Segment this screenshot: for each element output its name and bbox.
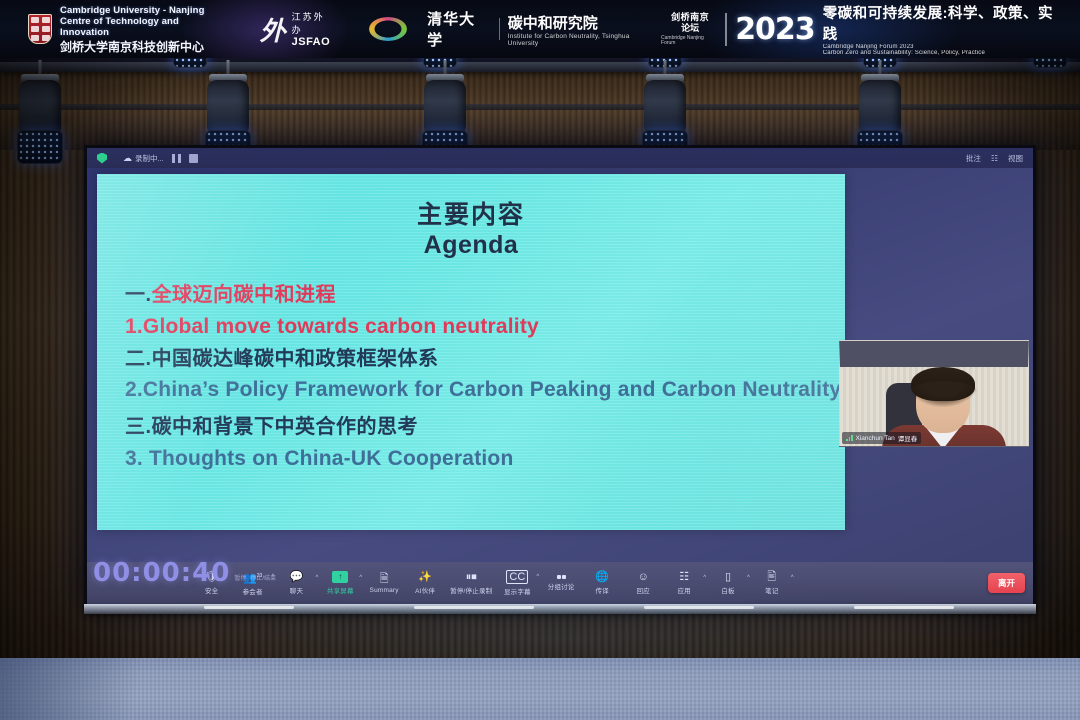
leave-meeting-button[interactable]: 离开 (988, 573, 1025, 593)
view-icon: ☷ (991, 154, 998, 163)
view-button[interactable]: 视图 (1008, 153, 1023, 164)
floor-shadow (0, 658, 180, 720)
forum-year: 2023 (735, 12, 815, 47)
stage-lip (84, 604, 1036, 614)
slide-title-zh: 主要内容 (97, 200, 845, 230)
zoom-control-captions[interactable]: CC 显示字幕 (497, 570, 537, 596)
chat-bubble-icon: 💬 (290, 571, 304, 583)
presentation-slide: 主要内容 Agenda 一.全球迈向碳中和进程 1.Global move to… (97, 174, 845, 530)
share-screen-icon: ↑ (332, 571, 348, 583)
forum-slogan-zh: 零碳和可持续发展:科学、政策、实践 (823, 2, 1066, 44)
cambridge-logo-text: Cambridge University - Nanjing Centre of… (60, 5, 230, 54)
agenda-item: 二.中国碳达峰碳中和政策框架体系 (125, 344, 845, 376)
cambridge-en-line2: Centre of Technology and Innovation (60, 16, 230, 38)
zoom-control-reactions-label: 回应 (636, 585, 649, 595)
zoom-control-notes[interactable]: 🖹 笔记 (752, 571, 792, 595)
forum-badge-line1: 剑桥南京 (671, 13, 709, 22)
zoom-control-summary[interactable]: 🗎 Summary (364, 573, 404, 594)
zoom-top-bar: ☁ 录制中... 批注 ☷ 视图 (87, 148, 1033, 168)
meeting-timer: 00:00:40 暂停 停止/结束 (93, 560, 276, 586)
screenshot-root: Cambridge University - Nanjing Centre of… (0, 0, 1080, 720)
lip-highlight (644, 606, 754, 609)
cambridge-en-line1: Cambridge University - Nanjing (60, 5, 230, 16)
lip-highlight (204, 606, 294, 609)
lip-highlight (854, 606, 954, 609)
agenda-item-3-en: Thoughts on China-UK Cooperation (149, 447, 514, 470)
zoom-control-whiteboard-label: 白板 (721, 585, 734, 595)
agenda-item-3-zh-num: 三. (125, 416, 152, 438)
forum-badge-en: Cambridge Nanjing Forum (661, 36, 719, 46)
agenda-item: 3. Thoughts on China-UK Cooperation (125, 444, 845, 476)
chevron-up-icon[interactable]: ^ (703, 575, 706, 581)
projection-screen: ☁ 录制中... 批注 ☷ 视图 主要内容 Agenda (84, 145, 1036, 607)
pause-stop-icon: ⏸⏹ (466, 571, 477, 583)
zoom-meeting-window: ☁ 录制中... 批注 ☷ 视图 主要内容 Agenda (87, 148, 1033, 604)
event-banner: Cambridge University - Nanjing Centre of… (0, 0, 1080, 58)
cgn-logo (369, 17, 407, 41)
agenda-item-1-zh-num: 一. (125, 284, 152, 306)
zoom-control-breakout[interactable]: 分组讨论 (541, 575, 581, 591)
zoom-control-chat[interactable]: 💬 聊天 (276, 571, 316, 595)
pause-recording-button[interactable] (172, 154, 181, 163)
cambridge-zh: 剑桥大学南京科技创新中心 (60, 40, 230, 54)
timer-sub-left: 暂停 (234, 573, 246, 582)
zoom-control-share-label: 共享屏幕 (327, 585, 354, 595)
recording-status: ☁ 录制中... (123, 153, 164, 164)
zoom-control-share-group[interactable]: ↑ 共享屏幕 ^ (320, 571, 363, 595)
summary-icon: 🗎 (380, 573, 389, 585)
zoom-control-whiteboard-group[interactable]: ▯ 白板 ^ (708, 571, 751, 595)
grid-icon (557, 575, 566, 579)
zoom-control-interpretation[interactable]: 🌐 传译 (582, 571, 622, 595)
agenda-item-2-zh-num: 二. (125, 348, 152, 370)
zoom-control-ai-companion[interactable]: ✨ AI伙伴 (405, 571, 445, 595)
tsinghua-logo: 清华大学 碳中和研究院 Institute for Carbon Neutral… (427, 8, 661, 50)
agenda-item-2-en-num: 2. (125, 378, 143, 401)
zoom-control-participants-label: 参会者 (243, 586, 263, 596)
agenda-list: 一.全球迈向碳中和进程 1.Global move towards carbon… (125, 280, 845, 476)
zoom-control-whiteboard[interactable]: ▯ 白板 (708, 571, 748, 595)
forum-slogan: 零碳和可持续发展:科学、政策、实践 Cambridge Nanjing Foru… (823, 2, 1066, 56)
globe-icon: 🌐 (595, 571, 609, 583)
agenda-item-1-zh: 全球迈向碳中和进程 (152, 284, 337, 306)
zoom-control-summary-label: Summary (370, 587, 399, 594)
agenda-item-2-zh: 中国碳达峰碳中和政策框架体系 (152, 348, 439, 370)
chevron-up-icon[interactable]: ^ (359, 575, 362, 581)
zoom-control-apps-group[interactable]: ☷ 应用 ^ (664, 571, 707, 595)
tsinghua-institute-zh: 碳中和研究院 (508, 12, 661, 33)
audio-signal-icon (846, 435, 853, 441)
zoom-control-chat-label: 聊天 (290, 585, 303, 595)
notes-icon: 🖹 (767, 571, 776, 583)
shared-content-area: 主要内容 Agenda 一.全球迈向碳中和进程 1.Global move to… (87, 168, 1033, 562)
video-background-top (840, 341, 1028, 367)
jsfao-zh: 江苏外办 (292, 10, 336, 36)
tsinghua-name: 清华大学 (427, 8, 491, 50)
meeting-timer-value: 00:00:40 (93, 560, 230, 586)
timer-sub-right: 停止/结束 (250, 573, 276, 582)
forum-branding: 剑桥南京 论坛 Cambridge Nanjing Forum 2023 零碳和… (661, 2, 1066, 56)
zoom-controls: 🛡 安全 👥23 参会者 ^ 💬 聊天 (192, 570, 795, 597)
shield-icon[interactable] (97, 153, 107, 164)
stage-floor (0, 658, 1080, 720)
zoom-control-interpretation-label: 传译 (595, 585, 608, 595)
agenda-item: 三.碳中和背景下中英合作的思考 (125, 412, 845, 444)
participant-name-badge: Xianchun Tan 谭显春 (842, 432, 921, 444)
zoom-control-apps[interactable]: ☷ 应用 (664, 571, 704, 595)
forum-badge-line2: 论坛 (681, 24, 699, 33)
cloud-icon: ☁ (123, 153, 132, 164)
zoom-control-captions-label: 显示字幕 (504, 586, 531, 596)
slide-title-en: Agenda (97, 230, 845, 260)
tsinghua-institute-en: Institute for Carbon Neutrality, Tsinghu… (508, 33, 661, 47)
jsfao-en: JSFAO (292, 36, 336, 48)
chevron-up-icon[interactable]: ^ (315, 575, 318, 581)
participant-name-zh: 谭显春 (898, 433, 918, 443)
stop-recording-button[interactable] (189, 154, 198, 163)
slide-heading: 主要内容 Agenda (97, 200, 845, 260)
chevron-up-icon[interactable]: ^ (747, 575, 750, 581)
jsfao-mark-icon: 外 (260, 11, 286, 48)
zoom-control-captions-group[interactable]: CC 显示字幕 ^ (497, 570, 540, 596)
zoom-control-breakout-label: 分组讨论 (548, 581, 575, 591)
cc-icon: CC (506, 570, 528, 584)
tsinghua-divider (499, 18, 500, 40)
zoom-control-reactions[interactable]: ☺ 回应 (623, 571, 663, 595)
agenda-item-2-en: China’s Policy Framework for Carbon Peak… (143, 378, 841, 401)
lip-highlight (414, 606, 534, 609)
agenda-item-3-zh: 碳中和背景下中英合作的思考 (152, 416, 419, 438)
forum-badge: 剑桥南京 论坛 Cambridge Nanjing Forum (661, 13, 727, 46)
agenda-item-1-en-num: 1. (125, 315, 143, 338)
zoom-control-notes-group[interactable]: 🖹 笔记 ^ (752, 571, 795, 595)
speaker-hair (911, 367, 975, 401)
agenda-item: 2.China’s Policy Framework for Carbon Pe… (125, 376, 845, 406)
zoom-control-recording[interactable]: ⏸⏹ 暂停/停止录制 (446, 571, 496, 595)
zoom-control-chat-group[interactable]: 💬 聊天 ^ (276, 571, 319, 595)
forum-slogan-en2: Carbon Zero and Sustainability: Science,… (823, 50, 1066, 56)
annotate-button[interactable]: 批注 (966, 153, 981, 164)
agenda-item: 一.全球迈向碳中和进程 (125, 280, 845, 312)
zoom-control-recording-label: 暂停/停止录制 (450, 585, 492, 595)
participant-name-en: Xianchun Tan (856, 435, 895, 442)
agenda-item: 1.Global move towards carbon neutrality (125, 312, 845, 344)
zoom-control-apps-label: 应用 (677, 585, 690, 595)
jsfao-logo: 外 江苏外办 JSFAO (260, 10, 336, 48)
agenda-item-1-en: Global move towards carbon neutrality (143, 315, 539, 338)
whiteboard-icon: ▯ (725, 571, 731, 583)
participant-video-tile[interactable]: Xianchun Tan 谭显春 (839, 340, 1029, 447)
zoom-control-notes-label: 笔记 (765, 585, 778, 595)
sparkle-icon: ✨ (418, 571, 432, 583)
zoom-bottom-toolbar: 00:00:40 暂停 停止/结束 🛡 安全 👥23 参会者 ^ (87, 562, 1033, 604)
zoom-control-ai-label: AI伙伴 (415, 585, 435, 595)
apps-icon: ☷ (679, 571, 689, 583)
cambridge-crest-icon (28, 14, 52, 44)
cgn-ring-icon (369, 17, 407, 41)
agenda-item-3-en-num: 3. (125, 447, 149, 470)
chevron-up-icon[interactable]: ^ (791, 575, 794, 581)
zoom-top-bar-right: 批注 ☷ 视图 (966, 153, 1023, 164)
recording-label: 录制中... (135, 153, 164, 164)
zoom-control-share-screen[interactable]: ↑ 共享屏幕 (320, 571, 360, 595)
emoji-icon: ☺ (638, 571, 649, 583)
chevron-up-icon[interactable]: ^ (536, 574, 539, 580)
